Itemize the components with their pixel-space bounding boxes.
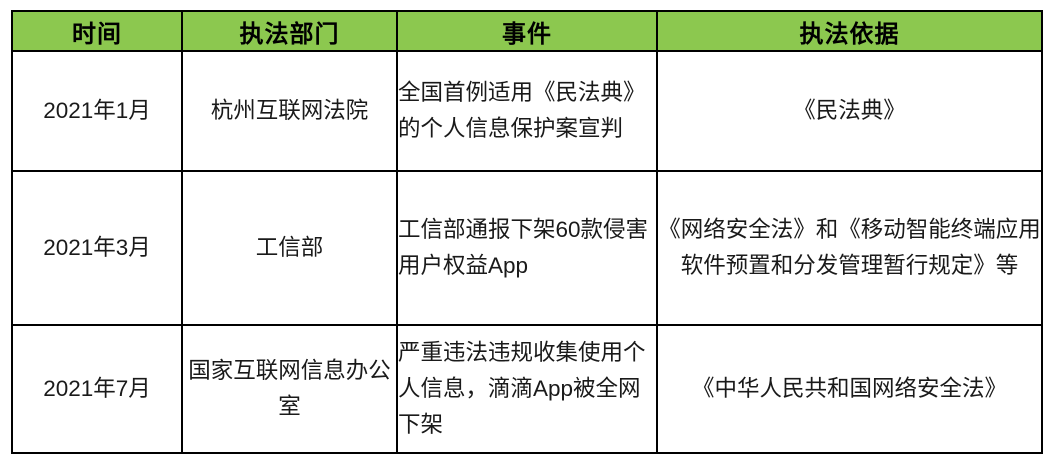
cell-time-text: 2021年1月 xyxy=(13,93,181,129)
cell-basis: 《中华人民共和国网络安全法》 xyxy=(657,325,1042,453)
cell-event-text: 工信部通报下架60款侵害用户权益App xyxy=(398,212,656,284)
cell-department-text: 工信部 xyxy=(183,230,396,266)
cell-basis-text: 《网络安全法》和《移动智能终端应用软件预置和分发管理暂行规定》等 xyxy=(658,212,1041,284)
column-header-time: 时间 xyxy=(12,11,182,51)
cell-basis-text: 《民法典》 xyxy=(658,93,1041,129)
table-container: 时间 执法部门 事件 执法依据 2021年1月 杭州互联网法院 全国首例适用《民… xyxy=(11,10,1041,450)
cell-time: 2021年3月 xyxy=(12,171,182,325)
cell-event: 严重违法违规收集使用个人信息，滴滴App被全网下架 xyxy=(397,325,657,453)
cell-basis-text: 《中华人民共和国网络安全法》 xyxy=(658,371,1041,407)
cell-event-text: 全国首例适用《民法典》的个人信息保护案宣判 xyxy=(398,75,656,147)
cell-time-text: 2021年3月 xyxy=(13,230,181,266)
column-header-basis: 执法依据 xyxy=(657,11,1042,51)
cell-time: 2021年1月 xyxy=(12,51,182,171)
header-row: 时间 执法部门 事件 执法依据 xyxy=(12,11,1042,51)
cell-time-text: 2021年7月 xyxy=(13,371,181,407)
cell-basis: 《民法典》 xyxy=(657,51,1042,171)
table-row: 2021年7月 国家互联网信息办公室 严重违法违规收集使用个人信息，滴滴App被… xyxy=(12,325,1042,453)
enforcement-table: 时间 执法部门 事件 执法依据 2021年1月 杭州互联网法院 全国首例适用《民… xyxy=(11,10,1043,454)
column-header-event: 事件 xyxy=(397,11,657,51)
cell-department: 杭州互联网法院 xyxy=(182,51,397,171)
cell-department: 国家互联网信息办公室 xyxy=(182,325,397,453)
cell-department-text: 杭州互联网法院 xyxy=(183,93,396,129)
cell-event: 工信部通报下架60款侵害用户权益App xyxy=(397,171,657,325)
table-header: 时间 执法部门 事件 执法依据 xyxy=(12,11,1042,51)
cell-department-text: 国家互联网信息办公室 xyxy=(183,353,396,425)
cell-event-text: 严重违法违规收集使用个人信息，滴滴App被全网下架 xyxy=(398,335,656,443)
cell-basis: 《网络安全法》和《移动智能终端应用软件预置和分发管理暂行规定》等 xyxy=(657,171,1042,325)
table-row: 2021年1月 杭州互联网法院 全国首例适用《民法典》的个人信息保护案宣判 《民… xyxy=(12,51,1042,171)
column-header-department: 执法部门 xyxy=(182,11,397,51)
table-body: 2021年1月 杭州互联网法院 全国首例适用《民法典》的个人信息保护案宣判 《民… xyxy=(12,51,1042,453)
cell-department: 工信部 xyxy=(182,171,397,325)
cell-event: 全国首例适用《民法典》的个人信息保护案宣判 xyxy=(397,51,657,171)
table-row: 2021年3月 工信部 工信部通报下架60款侵害用户权益App 《网络安全法》和… xyxy=(12,171,1042,325)
cell-time: 2021年7月 xyxy=(12,325,182,453)
